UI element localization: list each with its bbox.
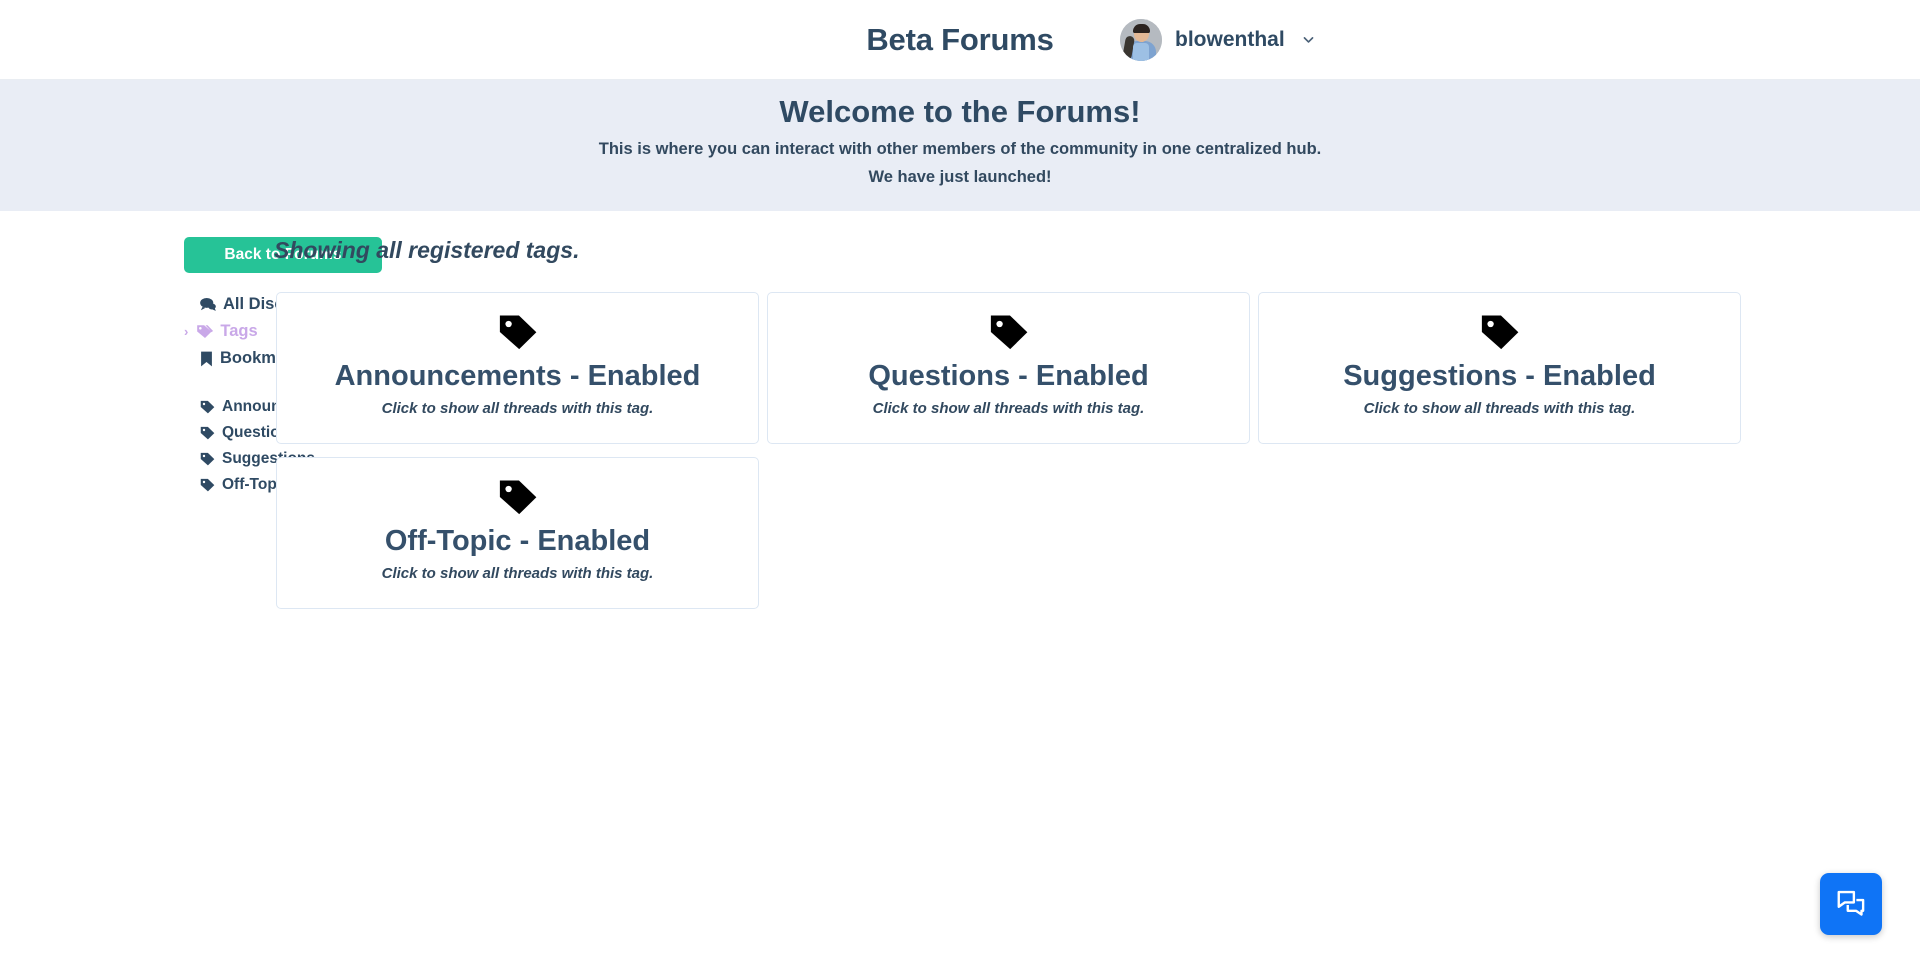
welcome-line-2: We have just launched! (0, 168, 1920, 187)
sidebar-nav-list: All Discussions › Tags (184, 291, 245, 498)
tag-card-grid: Announcements - Enabled Click to show al… (272, 292, 1920, 622)
welcome-heading: Welcome to the Forums! (0, 94, 1920, 130)
tag-card-subtitle: Click to show all threads with this tag. (784, 400, 1233, 417)
tag-icon (200, 478, 215, 492)
bookmark-icon (200, 351, 213, 367)
page-title: Showing all registered tags. (274, 237, 1920, 264)
welcome-banner: Welcome to the Forums! This is where you… (0, 80, 1920, 211)
tags-icon (196, 324, 213, 339)
tag-card-title: Off-Topic - Enabled (293, 525, 742, 558)
tag-card-off-topic[interactable]: Off-Topic - Enabled Click to show all th… (276, 457, 759, 609)
sidebar-tag-suggestions[interactable]: Suggestions (184, 446, 245, 472)
chat-bubbles-icon (1836, 889, 1866, 920)
top-navbar: Beta Forums blowenthal (0, 0, 1920, 80)
tag-icon (784, 313, 1233, 356)
sidebar-tag-list: Announcements Questions (184, 394, 245, 498)
chevron-right-icon: › (184, 324, 188, 339)
main-content: Showing all registered tags. Announcemen… (245, 237, 1920, 622)
sidebar-item-all-discussions[interactable]: All Discussions (184, 291, 245, 318)
tag-icon (293, 478, 742, 521)
username-label: blowenthal (1175, 28, 1285, 52)
tag-icon (1275, 313, 1724, 356)
sidebar: Back to Forums All Discussions › (0, 237, 245, 498)
chevron-down-icon (1302, 33, 1315, 46)
site-brand-title: Beta Forums (866, 22, 1053, 58)
sidebar-tag-off-topic[interactable]: Off-Topic (184, 472, 245, 498)
tag-card-subtitle: Click to show all threads with this tag. (1275, 400, 1724, 417)
tag-card-questions[interactable]: Questions - Enabled Click to show all th… (767, 292, 1250, 444)
sidebar-item-bookmarks[interactable]: Bookmarks (184, 345, 245, 372)
chat-widget-button[interactable] (1820, 873, 1882, 935)
tag-card-title: Questions - Enabled (784, 360, 1233, 393)
tag-card-subtitle: Click to show all threads with this tag. (293, 400, 742, 417)
tag-card-title: Suggestions - Enabled (1275, 360, 1724, 393)
tag-card-title: Announcements - Enabled (293, 360, 742, 393)
tag-card-subtitle: Click to show all threads with this tag. (293, 565, 742, 582)
tag-icon (200, 426, 215, 440)
sidebar-item-tags[interactable]: › Tags (184, 318, 245, 345)
user-avatar (1120, 19, 1162, 61)
tag-icon (200, 452, 215, 466)
welcome-line-1: This is where you can interact with othe… (0, 140, 1920, 159)
sidebar-tag-announcements[interactable]: Announcements (184, 394, 245, 420)
tag-card-announcements[interactable]: Announcements - Enabled Click to show al… (276, 292, 759, 444)
tag-card-suggestions[interactable]: Suggestions - Enabled Click to show all … (1258, 292, 1741, 444)
user-menu[interactable]: blowenthal (1120, 19, 1315, 61)
sidebar-tag-questions[interactable]: Questions (184, 420, 245, 446)
page-body: Back to Forums All Discussions › (0, 211, 1920, 963)
comments-icon (200, 297, 216, 312)
tag-icon (200, 400, 215, 414)
tag-icon (293, 313, 742, 356)
